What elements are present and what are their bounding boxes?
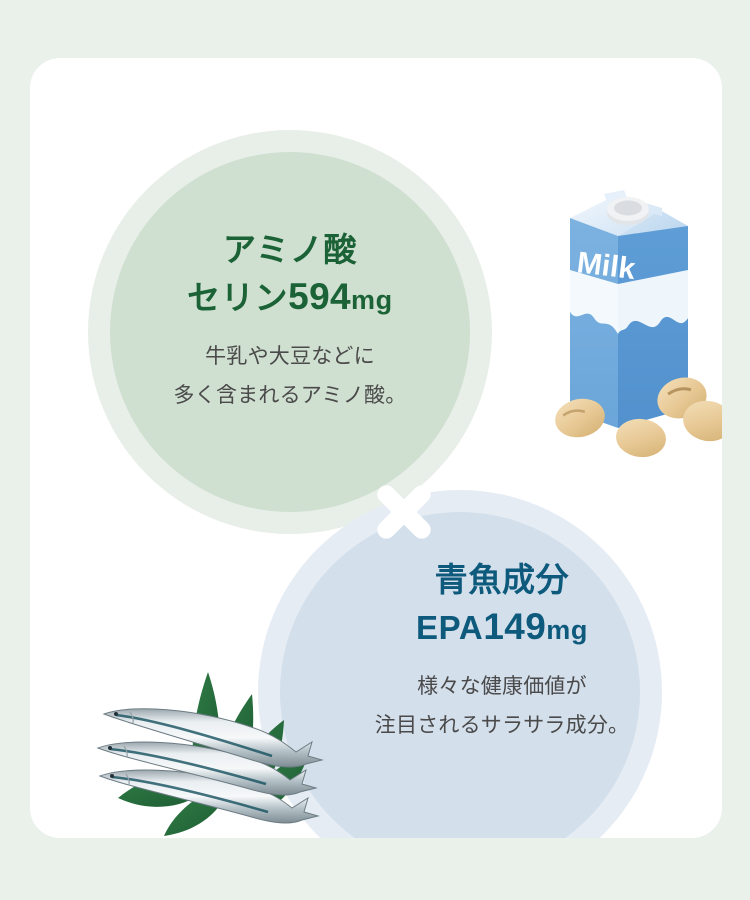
- amino-acid-heading-label: セリン: [187, 279, 288, 316]
- epa-heading: 青魚成分 EPA149mg: [332, 558, 672, 652]
- milk-carton-illustration: Milk: [542, 166, 722, 466]
- amino-acid-description-line1: 牛乳や大豆などに: [205, 345, 375, 368]
- page-root: アミノ酸 セリン594mg 牛乳や大豆などに 多く含まれるアミノ酸。 青魚成分 …: [0, 0, 750, 900]
- epa-description: 様々な健康価値が 注目されるサラサラ成分。: [332, 668, 672, 746]
- amino-acid-panel: アミノ酸 セリン594mg 牛乳や大豆などに 多く含まれるアミノ酸。: [120, 228, 460, 415]
- epa-description-line2: 注目されるサラサラ成分。: [375, 714, 630, 737]
- epa-panel: 青魚成分 EPA149mg 様々な健康価値が 注目されるサラサラ成分。: [332, 558, 672, 745]
- epa-description-line1: 様々な健康価値が: [417, 675, 587, 698]
- info-card: アミノ酸 セリン594mg 牛乳や大豆などに 多く含まれるアミノ酸。 青魚成分 …: [30, 58, 722, 838]
- amino-acid-description: 牛乳や大豆などに 多く含まれるアミノ酸。: [120, 338, 460, 416]
- amino-acid-heading-line1: アミノ酸: [223, 231, 357, 268]
- amino-acid-unit: mg: [351, 285, 393, 315]
- epa-heading-line1: 青魚成分: [435, 561, 570, 598]
- amino-acid-description-line2: 多く含まれるアミノ酸。: [174, 384, 407, 407]
- amino-acid-value: 594: [288, 276, 351, 317]
- epa-heading-label: EPA: [416, 609, 483, 646]
- multiply-cross-icon: [373, 481, 435, 543]
- saury-fish-illustration: [82, 650, 332, 838]
- epa-value: 149: [483, 606, 546, 647]
- epa-unit: mg: [546, 615, 588, 645]
- amino-acid-heading: アミノ酸 セリン594mg: [120, 228, 460, 322]
